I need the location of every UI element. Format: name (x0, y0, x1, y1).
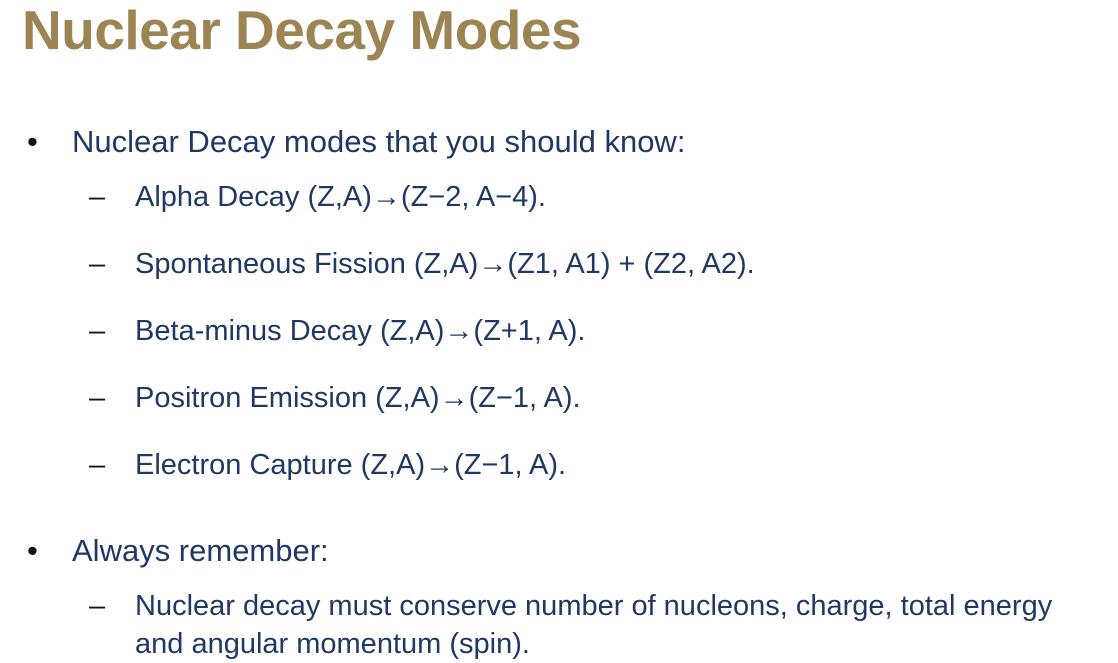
bullet-dash-icon: – (89, 587, 105, 625)
list-item-label: Nuclear Decay modes that you should know… (72, 124, 685, 159)
bullet-dash-icon: – (89, 312, 105, 350)
bullet-dot-icon: • (27, 531, 38, 571)
list-item-label: Electron Capture (Z,A)→(Z−1, A). (135, 446, 1100, 484)
list-item-label: Positron Emission (Z,A)→(Z−1, A). (135, 379, 1100, 417)
bullet-list: • Nuclear Decay modes that you should kn… (0, 122, 1118, 663)
slide-canvas: Nuclear Decay Modes • Nuclear Decay mode… (0, 0, 1118, 663)
list-item-label: Alpha Decay (Z,A)→(Z−2, A−4). (135, 178, 1100, 216)
list-item-level2: – Nuclear decay must conserve number of … (0, 587, 1118, 663)
list-item-level2: – Spontaneous Fission (Z,A)→(Z1, A1) + (… (0, 245, 1118, 283)
bullet-dash-icon: – (89, 245, 105, 283)
bullet-dash-icon: – (89, 178, 105, 216)
page-title: Nuclear Decay Modes (22, 0, 1082, 62)
bullet-dash-icon: – (89, 446, 105, 484)
list-item-level1: • Always remember: (0, 531, 1118, 571)
list-item-label: Spontaneous Fission (Z,A)→(Z1, A1) + (Z2… (135, 245, 1100, 283)
list-item-level2: – Positron Emission (Z,A)→(Z−1, A). (0, 379, 1118, 417)
list-item-level1: • Nuclear Decay modes that you should kn… (0, 122, 1118, 162)
list-item-label: Nuclear decay must conserve number of nu… (135, 587, 1100, 663)
section-spacer (0, 513, 1118, 531)
list-item-level2: – Electron Capture (Z,A)→(Z−1, A). (0, 446, 1118, 484)
list-item-level2: – Beta-minus Decay (Z,A)→(Z+1, A). (0, 312, 1118, 350)
bullet-dot-icon: • (27, 122, 38, 162)
list-item-level2: – Alpha Decay (Z,A)→(Z−2, A−4). (0, 178, 1118, 216)
list-item-label: Beta-minus Decay (Z,A)→(Z+1, A). (135, 312, 1100, 350)
bullet-dash-icon: – (89, 379, 105, 417)
list-item-label: Always remember: (72, 533, 329, 568)
